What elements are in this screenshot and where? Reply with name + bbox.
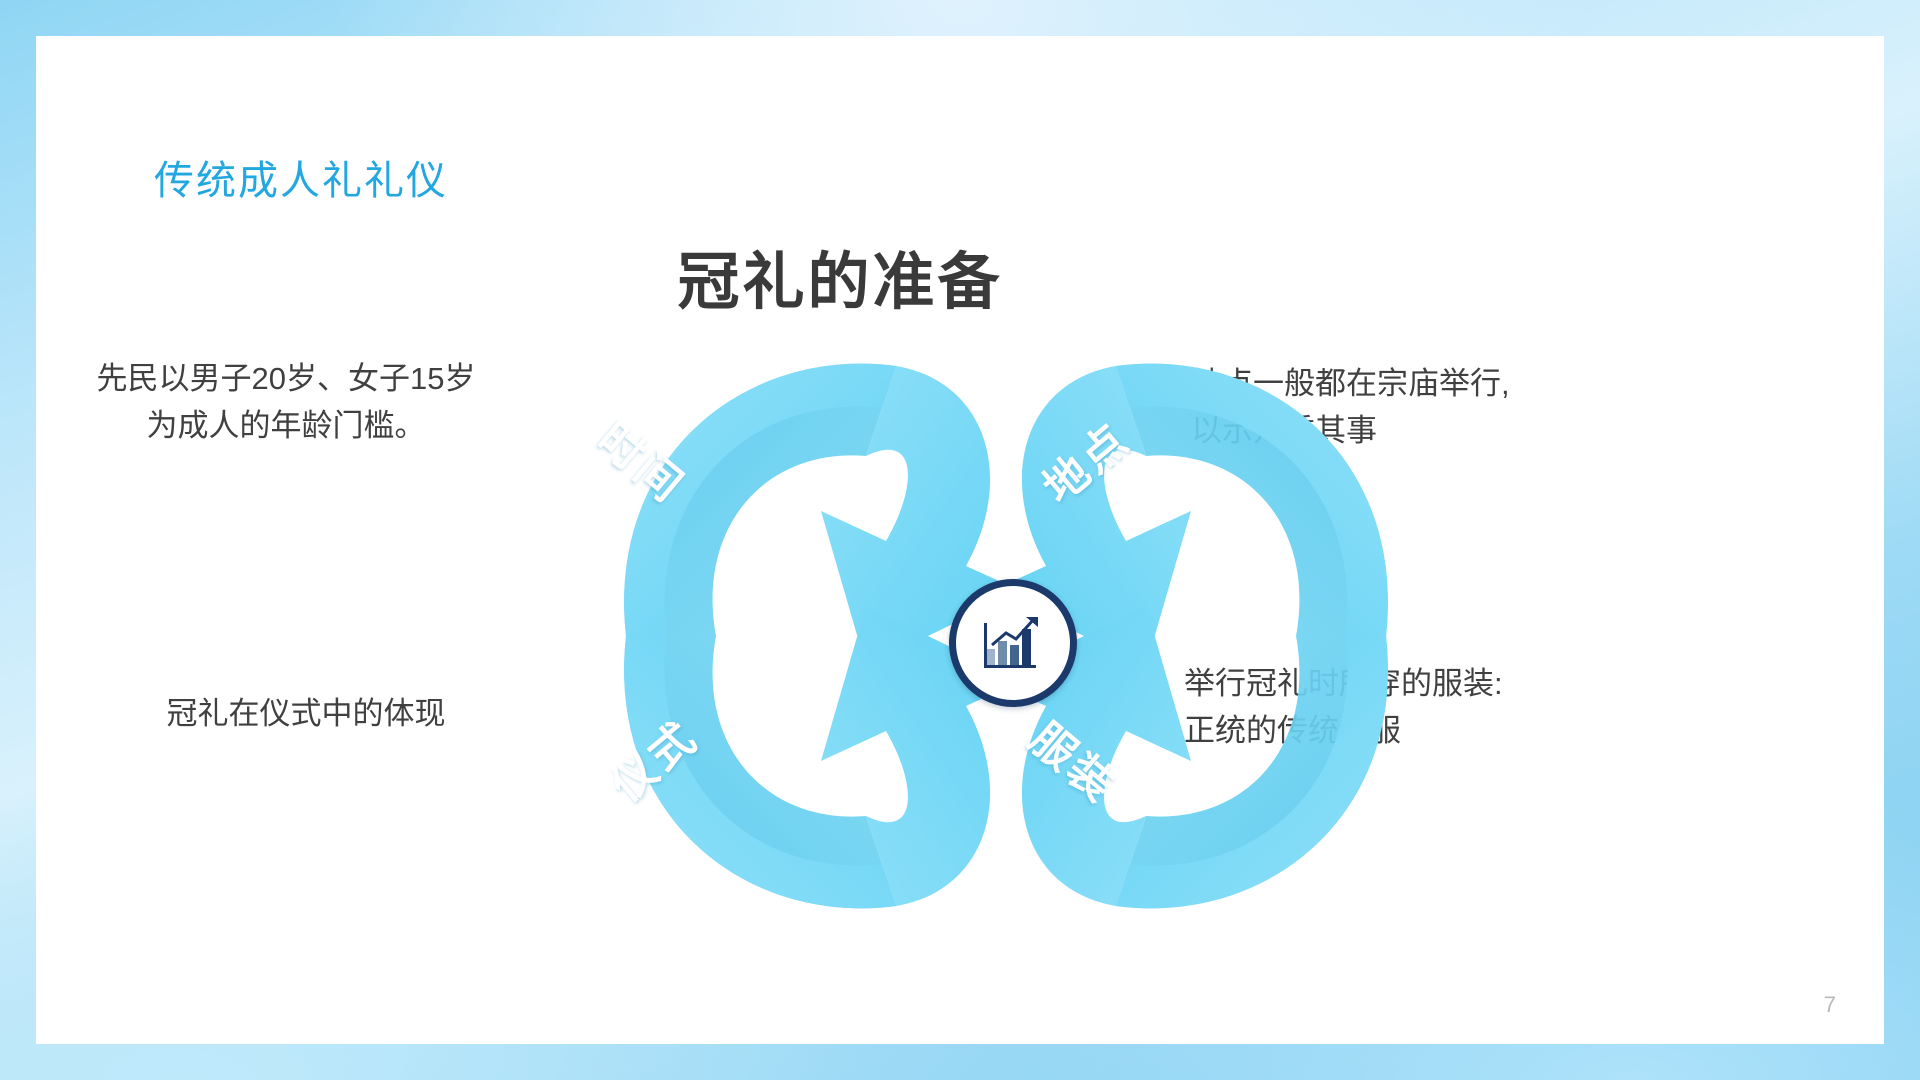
page-title: 冠礼的准备 [0, 231, 1764, 321]
converging-arrows-diagram: 时间 地点 仪式 服装 [566, 336, 1446, 936]
callout-top-left-line-1: 先民以男子20岁、女子15岁 [86, 356, 486, 403]
page-number: 7 [1824, 992, 1836, 1018]
center-badge [949, 579, 1077, 707]
callout-top-left: 先民以男子20岁、女子15岁 为成人的年龄门槛。 [86, 356, 486, 449]
slide-root: 传统成人礼礼仪 冠礼的准备 先民以男子20岁、女子15岁 为成人的年龄门槛。 地… [0, 0, 1920, 1080]
bar-chart-growth-icon [982, 615, 1044, 671]
callout-bottom-left-line-1: 冠礼在仪式中的体现 [106, 691, 506, 738]
callout-bottom-left: 冠礼在仪式中的体现 [106, 691, 506, 738]
slide-canvas: 传统成人礼礼仪 冠礼的准备 先民以男子20岁、女子15岁 为成人的年龄门槛。 地… [36, 36, 1884, 1044]
section-title: 传统成人礼礼仪 [154, 148, 448, 206]
callout-top-left-line-2: 为成人的年龄门槛。 [86, 403, 486, 450]
